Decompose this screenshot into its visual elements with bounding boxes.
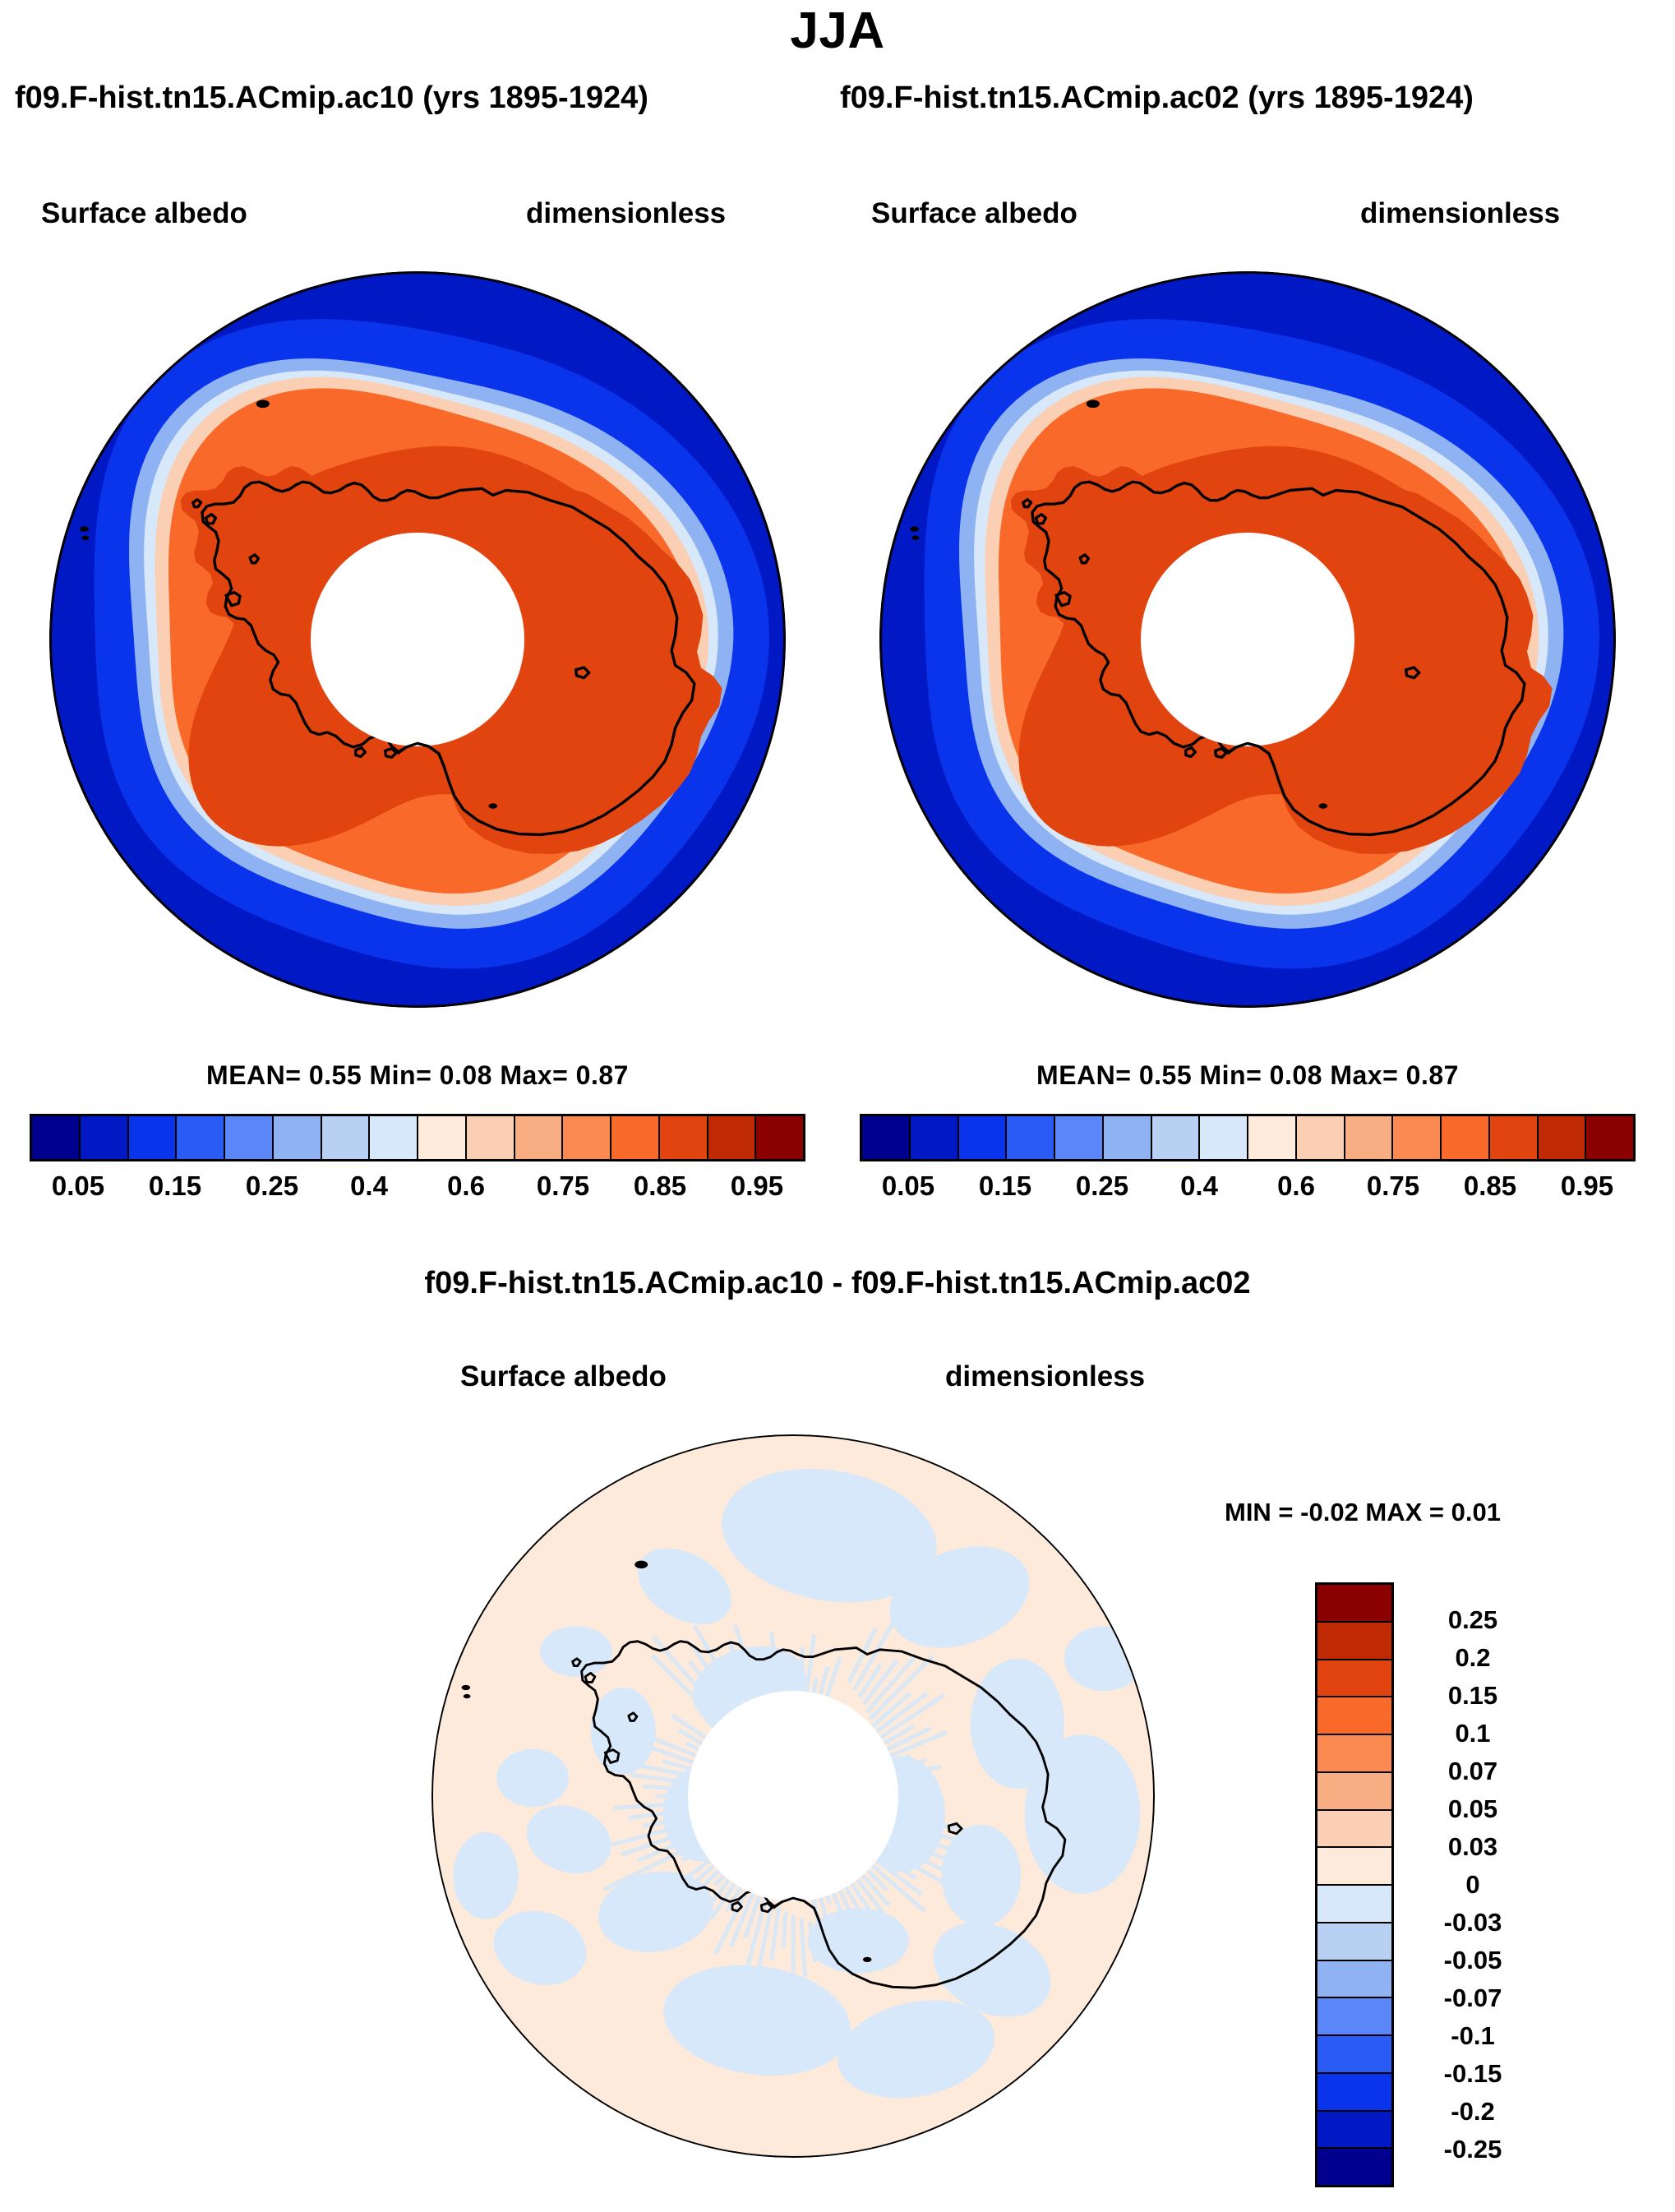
- colorbar-tick-label: -0.2: [1407, 2097, 1539, 2127]
- colorbar-cell: [32, 1116, 81, 1159]
- colorbar-cell: [467, 1116, 515, 1159]
- colorbar-tick-label: -0.03: [1407, 1908, 1539, 1937]
- colorbar-cell: [708, 1116, 757, 1159]
- colorbar-horizontal-right[interactable]: [860, 1114, 1636, 1161]
- colorbar-cell: [959, 1116, 1008, 1159]
- colorbar-cell: [418, 1116, 467, 1159]
- colorbar-tick-label: 0.05: [1407, 1794, 1539, 1824]
- colorbar-cell: [1442, 1116, 1490, 1159]
- colorbar-cell: [1586, 1116, 1633, 1159]
- colorbar-cell: [1317, 1660, 1391, 1698]
- colorbar-cell: [1317, 2149, 1391, 2185]
- colorbar-tick-label: -0.25: [1407, 2135, 1539, 2164]
- diff-minmax: MIN = -0.02 MAX = 0.01: [1225, 1498, 1501, 1527]
- pole-coastline: [49, 271, 786, 1008]
- colorbar-cell: [1317, 1848, 1391, 1886]
- colorbar-tick-label: 0.15: [149, 1171, 201, 1202]
- colorbar-tick-label: 0.85: [634, 1171, 686, 1202]
- colorbar-ticks-left: 0.050.150.250.40.60.750.850.95: [30, 1171, 805, 1208]
- colorbar-tick-label: 0.25: [1076, 1171, 1128, 1202]
- colorbar-cell: [1317, 1961, 1391, 1999]
- colorbar-tick-label: 0.2: [1407, 1643, 1539, 1673]
- pole-coastline: [431, 1434, 1155, 2158]
- colorbar-tick-label: -0.05: [1407, 1946, 1539, 1975]
- diff-variable-label: Surface albedo: [460, 1360, 667, 1393]
- colorbar-cell: [1007, 1116, 1055, 1159]
- colorbar-cell: [611, 1116, 660, 1159]
- left-units-label: dimensionless: [526, 197, 726, 230]
- colorbar-cell: [129, 1116, 178, 1159]
- colorbar-cell: [1317, 1886, 1391, 1923]
- colorbar-tick-label: 0.25: [1407, 1605, 1539, 1635]
- right-units-label: dimensionless: [1360, 197, 1560, 230]
- colorbar-tick-label: 0.95: [1561, 1171, 1613, 1202]
- colorbar-cell: [1317, 1811, 1391, 1849]
- colorbar-horizontal-left[interactable]: [30, 1114, 805, 1161]
- colorbar-cell: [225, 1116, 274, 1159]
- colorbar-cell: [1317, 1623, 1391, 1660]
- colorbar-vertical-difference[interactable]: [1315, 1582, 1394, 2187]
- colorbar-tick-label: -0.07: [1407, 1983, 1539, 2013]
- colorbar-tick-label: 0.03: [1407, 1832, 1539, 1862]
- colorbar-tick-label: 0.85: [1464, 1171, 1516, 1202]
- colorbar-cell: [1055, 1116, 1104, 1159]
- polar-map-difference[interactable]: [431, 1434, 1155, 2158]
- colorbar-cell: [1317, 1585, 1391, 1623]
- colorbar-cell: [1104, 1116, 1152, 1159]
- colorbar-tick-label: 0.07: [1407, 1757, 1539, 1786]
- colorbar-ticks-right: 0.050.150.250.40.60.750.850.95: [860, 1171, 1636, 1208]
- colorbar-cell: [563, 1116, 611, 1159]
- colorbar-cell: [1317, 2074, 1391, 2112]
- panel-title-left: f09.F-hist.tn15.ACmip.ac10 (yrs 1895-192…: [15, 81, 837, 116]
- left-stats: MEAN= 0.55 Min= 0.08 Max= 0.87: [49, 1060, 786, 1091]
- colorbar-cell: [862, 1116, 911, 1159]
- colorbar-cell: [370, 1116, 418, 1159]
- diff-units-label: dimensionless: [945, 1360, 1145, 1393]
- colorbar-tick-label: 0.95: [731, 1171, 783, 1202]
- colorbar-cell: [81, 1116, 129, 1159]
- colorbar-cell: [515, 1116, 564, 1159]
- colorbar-cell: [1539, 1116, 1587, 1159]
- colorbar-tick-label: 0.75: [537, 1171, 589, 1202]
- colorbar-cell: [660, 1116, 708, 1159]
- colorbar-cell: [322, 1116, 371, 1159]
- colorbar-tick-label: 0.15: [979, 1171, 1031, 1202]
- colorbar-cell: [1317, 1998, 1391, 2036]
- colorbar-cell: [756, 1116, 803, 1159]
- colorbar-tick-label: 0: [1407, 1870, 1539, 1900]
- colorbar-cell: [1317, 1923, 1391, 1961]
- polar-map-right[interactable]: [879, 271, 1616, 1008]
- difference-title: f09.F-hist.tn15.ACmip.ac10 - f09.F-hist.…: [0, 1266, 1675, 1301]
- colorbar-tick-label: -0.1: [1407, 2021, 1539, 2051]
- colorbar-cell: [1297, 1116, 1345, 1159]
- colorbar-tick-label: 0.1: [1407, 1719, 1539, 1748]
- colorbar-cell: [1200, 1116, 1248, 1159]
- colorbar-cell: [1317, 2036, 1391, 2074]
- colorbar-tick-label: 0.4: [350, 1171, 388, 1202]
- colorbar-cell: [177, 1116, 225, 1159]
- colorbar-tick-label: 0.75: [1367, 1171, 1419, 1202]
- colorbar-tick-label: 0.6: [447, 1171, 485, 1202]
- left-variable-label: Surface albedo: [41, 197, 247, 230]
- colorbar-tick-label: 0.25: [246, 1171, 298, 1202]
- right-variable-label: Surface albedo: [871, 197, 1077, 230]
- colorbar-cell: [1152, 1116, 1201, 1159]
- right-stats: MEAN= 0.55 Min= 0.08 Max= 0.87: [879, 1060, 1616, 1091]
- colorbar-tick-label: 0.15: [1407, 1681, 1539, 1711]
- colorbar-cell: [911, 1116, 959, 1159]
- pole-coastline: [879, 271, 1616, 1008]
- colorbar-cell: [1317, 1735, 1391, 1773]
- colorbar-tick-label: 0.6: [1277, 1171, 1315, 1202]
- colorbar-cell: [1393, 1116, 1442, 1159]
- colorbar-cell: [1317, 1697, 1391, 1735]
- colorbar-tick-label: 0.4: [1180, 1171, 1218, 1202]
- polar-map-left[interactable]: [49, 271, 786, 1008]
- colorbar-tick-label: -0.15: [1407, 2059, 1539, 2089]
- colorbar-cell: [1317, 2112, 1391, 2150]
- panel-title-right: f09.F-hist.tn15.ACmip.ac02 (yrs 1895-192…: [840, 81, 1662, 116]
- colorbar-vertical-ticks: 0.250.20.150.10.070.050.030-0.03-0.05-0.…: [1407, 1582, 1588, 2187]
- colorbar-tick-label: 0.05: [52, 1171, 104, 1202]
- colorbar-tick-label: 0.05: [882, 1171, 934, 1202]
- colorbar-cell: [1317, 1773, 1391, 1811]
- main-title: JJA: [0, 2, 1675, 60]
- colorbar-cell: [1248, 1116, 1297, 1159]
- colorbar-cell: [1490, 1116, 1539, 1159]
- colorbar-cell: [1345, 1116, 1394, 1159]
- colorbar-cell: [274, 1116, 322, 1159]
